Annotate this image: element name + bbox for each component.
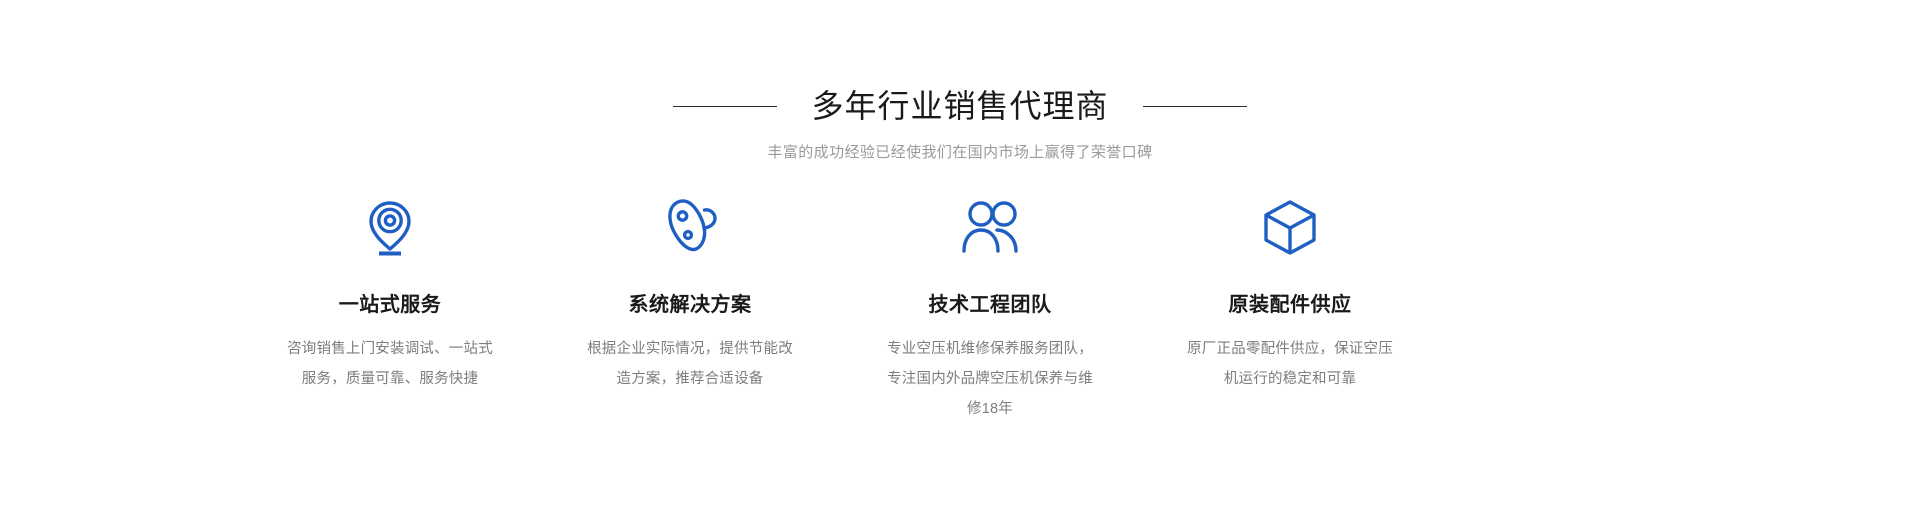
title-row: 多年行业销售代理商	[0, 84, 1920, 128]
tag-label-icon	[660, 198, 720, 256]
feature-section: 多年行业销售代理商 丰富的成功经验已经使我们在国内市场上赢得了荣誉口碑 一站式服…	[0, 0, 1920, 511]
feature-item-engineering-team: 技术工程团队 专业空压机维修保养服务团队，专注国内外品牌空压机保养与维修18年	[840, 198, 1140, 424]
cube-box-icon	[1261, 198, 1319, 256]
feature-title: 系统解决方案	[629, 292, 752, 318]
feature-list: 一站式服务 咨询销售上门安装调试、一站式服务，质量可靠、服务快捷 系统解决方案 …	[240, 198, 1440, 424]
title-rule-right	[1143, 106, 1247, 107]
page-title: 多年行业销售代理商	[811, 84, 1108, 128]
feature-item-system-solution: 系统解决方案 根据企业实际情况，提供节能改造方案，推荐合适设备	[540, 198, 840, 424]
feature-description: 咨询销售上门安装调试、一站式服务，质量可靠、服务快捷	[282, 334, 498, 394]
section-subtitle: 丰富的成功经验已经使我们在国内市场上赢得了荣誉口碑	[0, 142, 1920, 164]
feature-item-original-parts: 原装配件供应 原厂正品零配件供应，保证空压机运行的稳定和可靠	[1140, 198, 1440, 424]
team-people-icon	[959, 198, 1021, 256]
location-pin-icon	[362, 198, 418, 256]
section-heading: 多年行业销售代理商 丰富的成功经验已经使我们在国内市场上赢得了荣誉口碑	[0, 84, 1920, 164]
feature-title: 技术工程团队	[929, 292, 1052, 318]
feature-title: 原装配件供应	[1229, 292, 1352, 318]
feature-title: 一站式服务	[339, 292, 442, 318]
title-rule-left	[673, 106, 777, 107]
feature-description: 根据企业实际情况，提供节能改造方案，推荐合适设备	[582, 334, 798, 394]
feature-description: 专业空压机维修保养服务团队，专注国内外品牌空压机保养与维修18年	[882, 334, 1098, 424]
feature-item-one-stop-service: 一站式服务 咨询销售上门安装调试、一站式服务，质量可靠、服务快捷	[240, 198, 540, 424]
feature-description: 原厂正品零配件供应，保证空压机运行的稳定和可靠	[1182, 334, 1398, 394]
